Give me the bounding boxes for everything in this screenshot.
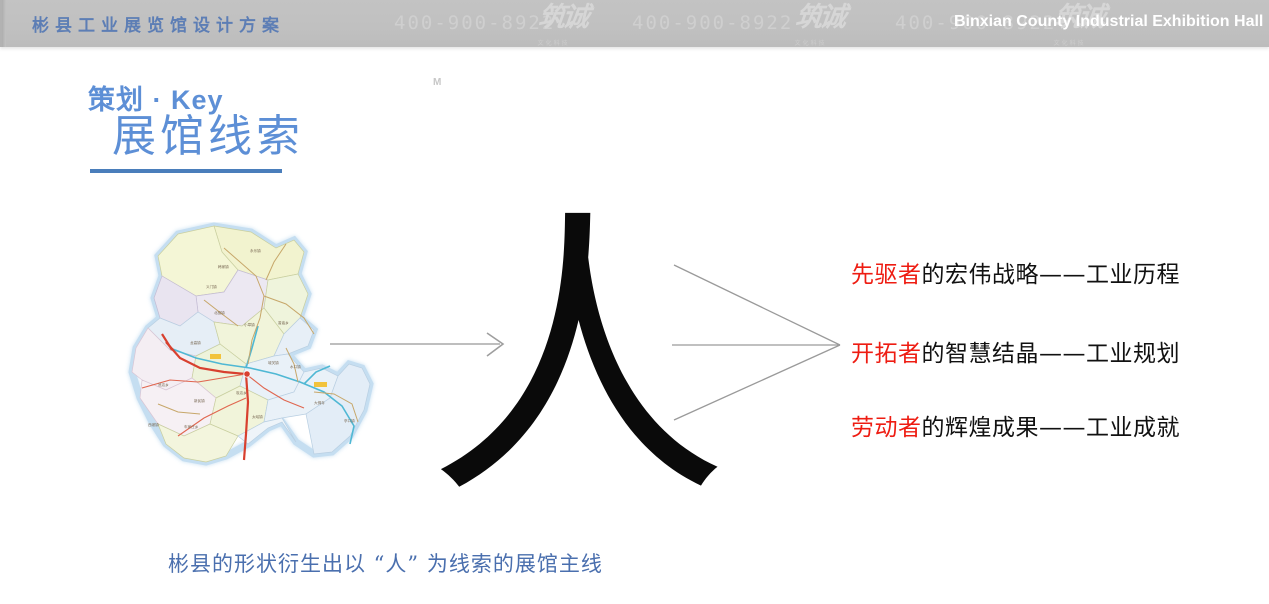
watermark-logo-subtext: 文化科技	[538, 24, 570, 47]
svg-text:龙高镇: 龙高镇	[190, 340, 201, 345]
svg-text:西坡镇: 西坡镇	[148, 422, 159, 427]
svg-text:北极镇: 北极镇	[214, 310, 225, 315]
svg-text:小章镇: 小章镇	[244, 322, 255, 327]
svg-text:亭口镇: 亭口镇	[344, 418, 355, 423]
svg-text:太峪镇: 太峪镇	[252, 414, 263, 419]
watermark-phone-2: 400-900-8922	[632, 12, 793, 34]
bullet-rest-2: 的智慧结晶——工业规划	[922, 341, 1181, 367]
svg-text:韩家镇: 韩家镇	[218, 264, 229, 269]
watermark-logo-subtext: 文化科技	[795, 24, 827, 47]
bullet-item-1: 先驱者的宏伟战略——工业历程	[851, 255, 1180, 289]
header-title: 彬县工业展览馆设计方案	[32, 11, 285, 36]
svg-text:新民镇: 新民镇	[194, 398, 205, 403]
map-svg: 永乐镇 韩家镇 义门镇 北极镇 小章镇 香庙乡 龙高镇 城关镇 水口镇 底店乡 …	[118, 222, 380, 480]
bullet-item-3: 劳动者的辉煌成果——工业成就	[851, 408, 1180, 442]
svg-text:永乐镇: 永乐镇	[250, 248, 261, 253]
svg-text:炭店乡: 炭店乡	[236, 390, 247, 395]
bullet-highlight-2: 开拓者	[851, 341, 922, 367]
watermark-phone-1: 400-900-8922	[394, 12, 555, 34]
header-english-overlay: Binxian County Industrial Exhibition Hal…	[954, 13, 1263, 31]
svg-text:香庙乡: 香庙乡	[278, 320, 289, 325]
slide-caption: 彬县的形状衍生出以 “人” 为线索的展馆主线	[168, 548, 603, 578]
ren-character-glyph: 人	[428, 216, 718, 506]
mini-marker-label: M	[433, 77, 441, 88]
bullet-rest-3: 的辉煌成果——工业成就	[922, 415, 1181, 441]
watermark-logo-2: 筑诚 文化科技	[793, 0, 908, 44]
title-underline-rule	[90, 169, 282, 173]
svg-text:车家庄乡: 车家庄乡	[184, 424, 199, 429]
bullet-rest-1: 的宏伟战略——工业历程	[922, 262, 1181, 288]
bullet-item-2: 开拓者的智慧结晶——工业规划	[851, 334, 1180, 368]
app-header-bar: 彬县工业展览馆设计方案 400-900-8922 400-900-8922 40…	[0, 0, 1269, 47]
watermark-logo-1: 筑诚 文化科技	[536, 0, 651, 44]
svg-text:大佛寺: 大佛寺	[314, 400, 325, 405]
bullet-highlight-3: 劳动者	[851, 415, 922, 441]
header-left-edge	[2, 0, 6, 47]
svg-text:底店乡: 底店乡	[158, 382, 169, 387]
svg-text:城关镇: 城关镇	[268, 360, 279, 365]
bullet-highlight-1: 先驱者	[851, 262, 922, 288]
svg-text:水口镇: 水口镇	[290, 364, 301, 369]
svg-text:义门镇: 义门镇	[206, 284, 217, 289]
page-title-cn: 展馆线索	[112, 110, 304, 164]
binxian-county-map-image: 永乐镇 韩家镇 义门镇 北极镇 小章镇 香庙乡 龙高镇 城关镇 水口镇 底店乡 …	[118, 222, 380, 480]
